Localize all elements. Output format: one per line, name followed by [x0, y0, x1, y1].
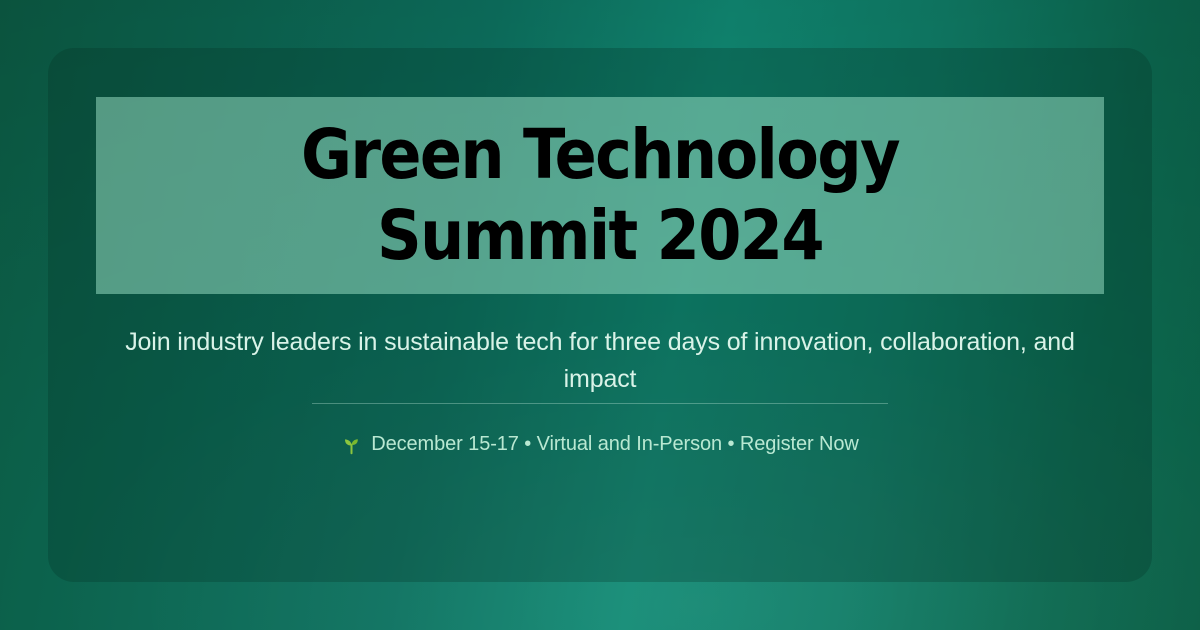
event-banner: Green Technology Summit 2024 Join indust…	[0, 0, 1200, 630]
page-title: Green Technology Summit 2024	[287, 115, 913, 275]
sprout-icon	[341, 434, 362, 455]
event-meta: December 15-17 • Virtual and In-Person •…	[96, 433, 1104, 456]
event-meta-text: December 15-17 • Virtual and In-Person •…	[371, 433, 858, 456]
hero-card: Green Technology Summit 2024 Join indust…	[48, 48, 1152, 582]
hero-subtitle: Join industry leaders in sustainable tec…	[96, 324, 1104, 397]
title-band: Green Technology Summit 2024	[96, 97, 1104, 294]
divider	[312, 403, 888, 404]
